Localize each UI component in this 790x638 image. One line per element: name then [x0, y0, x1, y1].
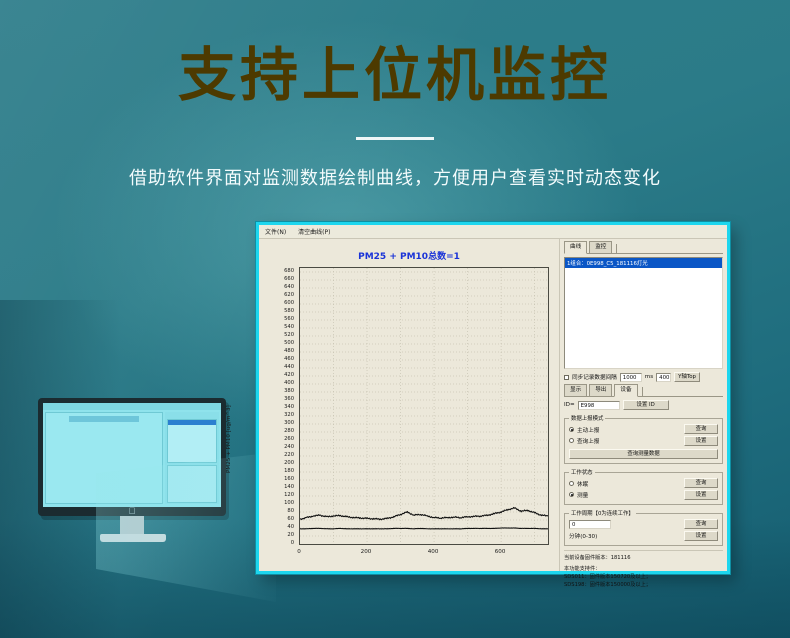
chart-y-tick: 320: [284, 412, 294, 418]
mini-device-list: [167, 419, 217, 463]
sub-tabstrip-separator: [642, 387, 643, 396]
chart-y-tick: 640: [284, 284, 294, 290]
application-window: 文件(N) 清空曲线(P) PM25 + PM10总数=1 PM25 + PM1…: [256, 222, 730, 574]
report-mode-set-button[interactable]: 设置: [684, 436, 718, 446]
sync-record-checkbox[interactable]: [564, 375, 569, 380]
work-cycle-set-button[interactable]: 设置: [684, 531, 718, 541]
chart-y-tick: 520: [284, 332, 294, 338]
mini-selected-row: [168, 420, 216, 425]
ytop-input[interactable]: 400: [656, 373, 671, 382]
tabstrip-separator: [616, 244, 617, 253]
work-cycle-unit-label: 分钟(0-30): [569, 532, 611, 540]
chart-y-tick: 480: [284, 348, 294, 354]
chart-y-tick: 300: [284, 420, 294, 426]
radio-query-report-label: 查询上报: [577, 437, 599, 445]
radio-active-report[interactable]: [569, 427, 574, 432]
right-tabstrip: 曲线 监控: [564, 243, 723, 254]
chart-y-tick: 340: [284, 404, 294, 410]
firmware-version-line: 当前设备固件版本：181116: [564, 554, 723, 562]
hero-section: 支持上位机监控 借助软件界面对监测数据绘制曲线，方便用户查看实时动态变化: [0, 42, 790, 190]
chart-y-tick: 500: [284, 340, 294, 346]
chart-y-axis: 0204060801001201401601802002202402602803…: [259, 267, 297, 543]
chart-y-tick: 420: [284, 372, 294, 378]
menubar: 文件(N) 清空曲线(P): [259, 225, 727, 239]
device-list-item-selected[interactable]: 1组合：0E998_C5_181116灯光: [565, 258, 722, 268]
chart-y-tick: 540: [284, 324, 294, 330]
report-mode-group: 数据上报模式 主动上报 查询上报: [564, 414, 723, 464]
monitor-stand-base: [100, 534, 166, 542]
device-id-row: ID= E998 设置 ID: [564, 400, 723, 410]
radio-query-report[interactable]: [569, 438, 574, 443]
mini-control-group: [167, 465, 217, 503]
chart-y-axis-label: PM25 + PM10 [ug/m^3]: [226, 343, 232, 473]
chart-y-tick: 180: [284, 468, 294, 474]
chart-y-tick: 260: [284, 436, 294, 442]
chart-y-tick: 360: [284, 396, 294, 402]
set-device-id-button[interactable]: 设置 ID: [623, 400, 669, 410]
work-state-query-button[interactable]: 查询: [684, 478, 718, 488]
menu-item-clear-curve[interactable]: 清空曲线(P): [298, 227, 330, 236]
work-cycle-legend: 工作周期【0为连续工作】: [569, 509, 636, 517]
work-state-legend: 工作状态: [569, 468, 595, 476]
chart-plot-area: [299, 267, 549, 545]
chart-y-tick: 160: [284, 476, 294, 482]
work-state-option-measure[interactable]: 测量: [569, 491, 588, 499]
chart-y-tick: 220: [284, 452, 294, 458]
device-id-label: ID=: [564, 402, 575, 408]
sync-interval-row: 同步记录数据间隔 1000 ms 400 Y轴Top: [564, 372, 723, 382]
support-line-sds011: SDS011：固件版本150720及以上；: [564, 573, 723, 581]
chart-y-tick: 0: [291, 540, 294, 546]
title-divider: [356, 137, 434, 140]
device-id-input[interactable]: E998: [578, 401, 620, 410]
chart-y-tick: 580: [284, 308, 294, 314]
chart-y-tick: 440: [284, 364, 294, 370]
tab-monitor[interactable]: 监控: [589, 241, 612, 253]
device-list[interactable]: 1组合：0E998_C5_181116灯光: [564, 257, 723, 369]
chart-y-tick: 280: [284, 428, 294, 434]
tab-display[interactable]: 显示: [564, 384, 587, 396]
radio-active-report-label: 主动上报: [577, 426, 599, 434]
chart-y-tick: 20: [287, 532, 294, 538]
chart-y-tick: 620: [284, 292, 294, 298]
chart-y-tick: 200: [284, 460, 294, 466]
tab-curve[interactable]: 曲线: [564, 241, 587, 254]
mini-menubar: [43, 403, 221, 410]
chart-y-tick: 60: [287, 516, 294, 522]
radio-measure-label: 测量: [577, 491, 588, 499]
chart-y-tick: 80: [287, 508, 294, 514]
query-measurement-button[interactable]: 查询测量数据: [569, 449, 718, 459]
chart-y-tick: 600: [284, 300, 294, 306]
chart-series-lines: [300, 268, 548, 544]
report-mode-legend: 数据上报模式: [569, 414, 605, 422]
report-mode-query-button[interactable]: 查询: [684, 424, 718, 434]
chart-y-tick: 120: [284, 492, 294, 498]
chart-y-tick: 380: [284, 388, 294, 394]
chart-title: PM25 + PM10总数=1: [259, 249, 559, 262]
firmware-info: 当前设备固件版本：181116 本功能支持件： SDS011：固件版本15072…: [564, 550, 723, 589]
chart-x-axis: 0200400600: [299, 547, 549, 561]
report-mode-option-query[interactable]: 查询上报: [569, 437, 599, 445]
sub-tabstrip: 显示 导出 设备: [564, 386, 723, 397]
chart-x-tick: 200: [361, 549, 372, 555]
mini-chart-pane: [45, 412, 163, 504]
chart-y-tick: 680: [284, 268, 294, 274]
chart-pane: PM25 + PM10总数=1 PM25 + PM10 [ug/m^3] 020…: [259, 239, 559, 571]
page-title: 支持上位机监控: [0, 42, 790, 109]
tab-device[interactable]: 设备: [614, 384, 637, 397]
tab-export[interactable]: 导出: [589, 384, 612, 396]
chart-y-tick: 660: [284, 276, 294, 282]
chart-x-tick: 0: [297, 549, 301, 555]
sync-interval-unit: ms: [645, 374, 653, 380]
work-state-set-button[interactable]: 设置: [684, 490, 718, 500]
mini-chart-title: [69, 416, 139, 422]
chart-y-tick: 240: [284, 444, 294, 450]
page-subtitle: 借助软件界面对监测数据绘制曲线，方便用户查看实时动态变化: [0, 164, 790, 190]
sync-interval-input[interactable]: 1000: [620, 373, 642, 382]
monitor-logo-icon: : [128, 507, 136, 515]
work-cycle-input[interactable]: 0: [569, 520, 611, 529]
work-cycle-group: 工作周期【0为连续工作】 0 分钟(0-30) 查询 设置: [564, 509, 723, 546]
monitor-stand-neck: [120, 516, 144, 536]
monitor-screen: [43, 403, 221, 507]
work-state-option-sleep[interactable]: 休眠: [569, 480, 588, 488]
chart-x-tick: 600: [495, 549, 506, 555]
chart-y-tick: 400: [284, 380, 294, 386]
radio-sleep-label: 休眠: [577, 480, 588, 488]
menu-item-file[interactable]: 文件(N): [265, 227, 286, 236]
chart-y-tick: 560: [284, 316, 294, 322]
support-title: 本功能支持件：: [564, 565, 723, 573]
sync-record-label: 同步记录数据间隔: [572, 373, 617, 381]
chart-y-tick: 100: [284, 500, 294, 506]
radio-measure[interactable]: [569, 492, 574, 497]
monitor-illustration: : [38, 398, 238, 558]
chart-y-tick: 40: [287, 524, 294, 530]
report-mode-option-active[interactable]: 主动上报: [569, 426, 599, 434]
chart-y-tick: 460: [284, 356, 294, 362]
control-pane: 曲线 监控 1组合：0E998_C5_181116灯光 同步记录数据间隔 100…: [559, 239, 727, 571]
radio-sleep[interactable]: [569, 481, 574, 486]
work-cycle-query-button[interactable]: 查询: [684, 519, 718, 529]
ytop-button[interactable]: Y轴Top: [674, 372, 700, 382]
chart-y-tick: 140: [284, 484, 294, 490]
support-line-sds198: SDS198：固件版本150000及以上；: [564, 581, 723, 589]
chart-x-tick: 400: [428, 549, 439, 555]
monitor-bezel: [38, 398, 226, 516]
work-state-group: 工作状态 休眠 测量: [564, 468, 723, 505]
